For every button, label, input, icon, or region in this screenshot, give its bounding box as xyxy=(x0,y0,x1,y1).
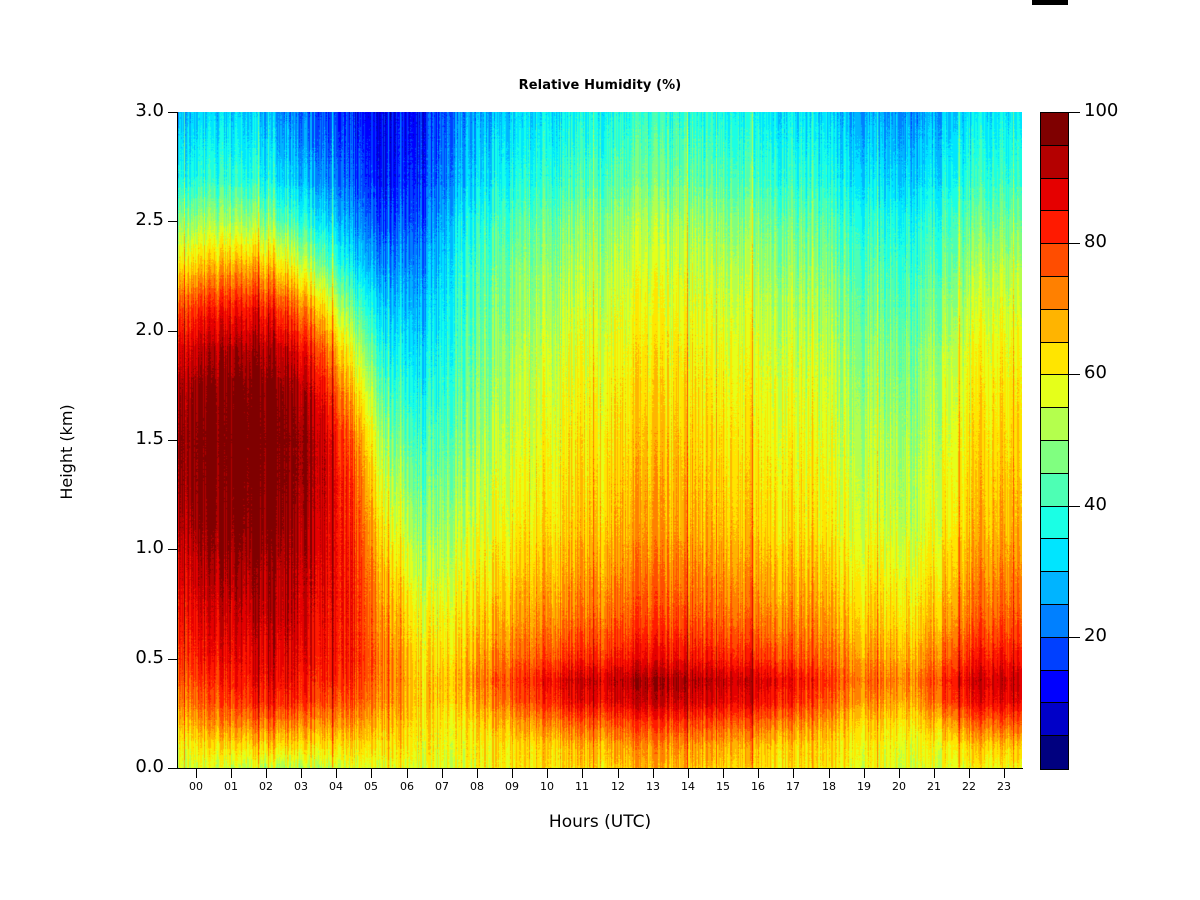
x-tick-mark xyxy=(688,769,689,778)
y-tick-label: 1.0 xyxy=(135,537,164,558)
x-tick-mark xyxy=(899,769,900,778)
x-tick-label: 14 xyxy=(673,780,703,793)
x-tick-mark xyxy=(969,769,970,778)
y-tick-mark xyxy=(168,768,177,769)
heatmap-plot-area xyxy=(178,112,1022,768)
colorbar-tick-label: 20 xyxy=(1084,625,1107,646)
x-tick-label: 13 xyxy=(638,780,668,793)
x-tick-label: 03 xyxy=(286,780,316,793)
x-tick-mark xyxy=(547,769,548,778)
x-tick-label: 05 xyxy=(356,780,386,793)
x-tick-label: 06 xyxy=(392,780,422,793)
colorbar-band xyxy=(1041,113,1068,146)
colorbar-tick-mark xyxy=(1068,243,1080,244)
colorbar-band xyxy=(1041,671,1068,704)
x-tick-label: 18 xyxy=(814,780,844,793)
colorbar-band xyxy=(1041,146,1068,179)
colorbar-band xyxy=(1041,572,1068,605)
y-tick-mark xyxy=(168,440,177,441)
y-axis-title: Height (km) xyxy=(57,352,81,552)
x-tick-label: 04 xyxy=(321,780,351,793)
colorbar-band xyxy=(1041,211,1068,244)
x-tick-mark xyxy=(864,769,865,778)
x-tick-mark xyxy=(723,769,724,778)
x-tick-label: 19 xyxy=(849,780,879,793)
y-tick-mark xyxy=(168,659,177,660)
colorbar-band xyxy=(1041,179,1068,212)
x-tick-label: 08 xyxy=(462,780,492,793)
x-tick-mark xyxy=(829,769,830,778)
x-tick-mark xyxy=(266,769,267,778)
colorbar-tick-mark xyxy=(1068,637,1080,638)
x-tick-label: 00 xyxy=(181,780,211,793)
x-tick-mark xyxy=(407,769,408,778)
colorbar-band xyxy=(1041,736,1068,769)
x-tick-label: 20 xyxy=(884,780,914,793)
x-tick-label: 11 xyxy=(567,780,597,793)
y-tick-mark xyxy=(168,221,177,222)
x-tick-label: 21 xyxy=(919,780,949,793)
x-tick-mark xyxy=(371,769,372,778)
x-tick-mark xyxy=(934,769,935,778)
x-tick-label: 17 xyxy=(778,780,808,793)
x-tick-label: 01 xyxy=(216,780,246,793)
y-tick-label: 3.0 xyxy=(135,100,164,121)
y-tick-label: 0.0 xyxy=(135,756,164,777)
x-tick-label: 12 xyxy=(603,780,633,793)
x-tick-mark xyxy=(793,769,794,778)
colorbar-tick-label: 80 xyxy=(1084,231,1107,252)
x-tick-mark xyxy=(231,769,232,778)
x-tick-label: 22 xyxy=(954,780,984,793)
x-tick-mark xyxy=(1004,769,1005,778)
colorbar-tick-mark xyxy=(1068,506,1080,507)
x-tick-label: 02 xyxy=(251,780,281,793)
colorbar-band xyxy=(1041,244,1068,277)
colorbar-band xyxy=(1041,703,1068,736)
y-tick-label: 2.5 xyxy=(135,209,164,230)
colorbar-band xyxy=(1041,605,1068,638)
y-tick-mark xyxy=(168,549,177,550)
top-edge-artifact xyxy=(1032,0,1068,5)
x-tick-label: 10 xyxy=(532,780,562,793)
x-tick-label: 09 xyxy=(497,780,527,793)
x-tick-mark xyxy=(477,769,478,778)
colorbar-band xyxy=(1041,310,1068,343)
colorbar-band xyxy=(1041,343,1068,376)
colorbar-band xyxy=(1041,539,1068,572)
x-tick-label: 23 xyxy=(989,780,1019,793)
colorbar-tick-mark xyxy=(1068,112,1080,113)
y-tick-mark xyxy=(168,331,177,332)
x-tick-mark xyxy=(336,769,337,778)
colorbar-tick-mark xyxy=(1068,374,1080,375)
x-tick-label: 16 xyxy=(743,780,773,793)
y-tick-mark xyxy=(168,112,177,113)
y-tick-label: 2.0 xyxy=(135,319,164,340)
colorbar-tick-label: 40 xyxy=(1084,494,1107,515)
x-axis-line xyxy=(177,768,1023,769)
colorbar-tick-label: 60 xyxy=(1084,362,1107,383)
colorbar-band xyxy=(1041,638,1068,671)
colorbar-band xyxy=(1041,277,1068,310)
humidity-time-height-figure: Relative Humidity (%) 0.00.51.01.52.02.5… xyxy=(0,0,1200,900)
y-tick-label: 0.5 xyxy=(135,647,164,668)
colorbar-band xyxy=(1041,507,1068,540)
x-tick-label: 15 xyxy=(708,780,738,793)
x-tick-mark xyxy=(442,769,443,778)
colorbar xyxy=(1040,112,1069,770)
x-tick-mark xyxy=(758,769,759,778)
colorbar-band xyxy=(1041,408,1068,441)
x-tick-mark xyxy=(301,769,302,778)
colorbar-tick-label: 100 xyxy=(1084,100,1118,121)
humidity-field-canvas xyxy=(178,112,1022,768)
x-tick-mark xyxy=(512,769,513,778)
x-axis-title: Hours (UTC) xyxy=(178,812,1022,832)
colorbar-band xyxy=(1041,441,1068,474)
x-tick-mark xyxy=(618,769,619,778)
colorbar-band xyxy=(1041,474,1068,507)
x-tick-label: 07 xyxy=(427,780,457,793)
y-tick-label: 1.5 xyxy=(135,428,164,449)
colorbar-band xyxy=(1041,375,1068,408)
x-tick-mark xyxy=(582,769,583,778)
x-tick-mark xyxy=(653,769,654,778)
page-title: Relative Humidity (%) xyxy=(178,78,1022,93)
x-tick-mark xyxy=(196,769,197,778)
y-axis-line xyxy=(177,112,178,769)
